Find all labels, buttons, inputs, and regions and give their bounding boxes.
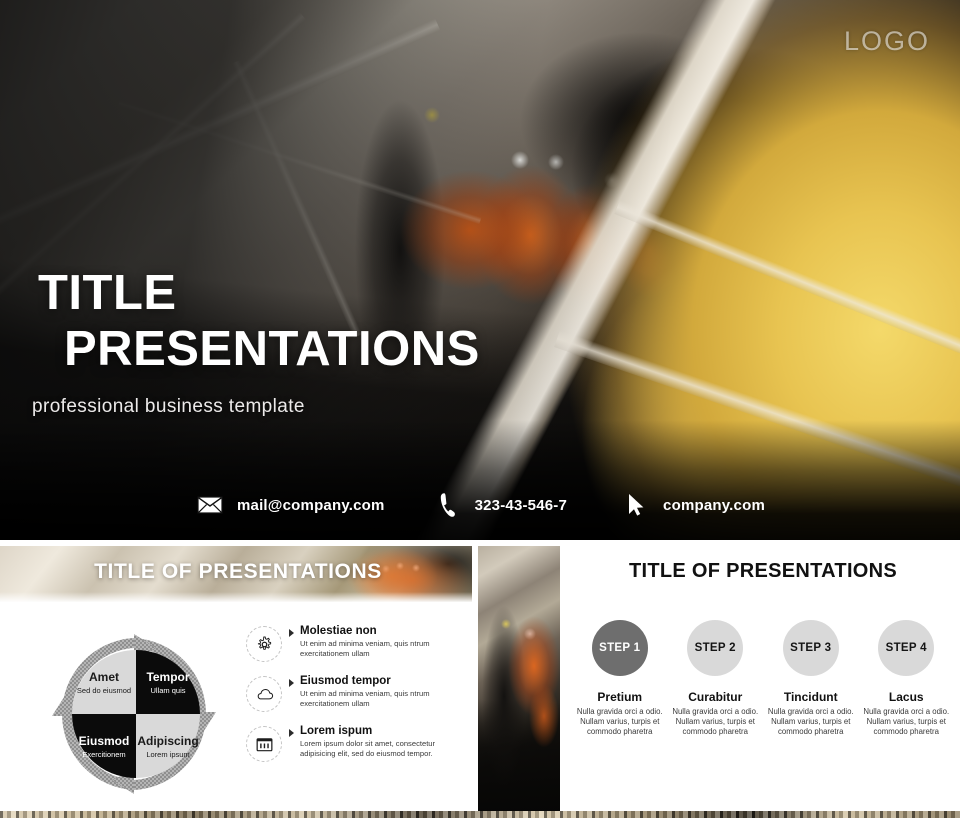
step-heading: Curabitur (688, 690, 742, 704)
hero-title-line2: PRESENTATIONS (38, 321, 480, 377)
feature-body: Ut enim ad minima veniam, quis ntrum exe… (300, 639, 456, 659)
hero-title-line1: TITLE (38, 266, 177, 320)
cycle-quadrants: Amet Sed do eiusmod Tempor Ullam quis Ad… (72, 650, 200, 778)
feature-heading: Lorem ispum (300, 724, 456, 738)
phone-icon (433, 492, 463, 518)
hero-subtitle: professional business template (32, 396, 305, 418)
calendar-icon (246, 726, 282, 762)
contact-website[interactable]: company.com (621, 492, 765, 518)
slide-left-header-photo: TITLE OF PRESENTATIONS (0, 546, 472, 602)
step-body: Nulla gravida orci a odio. Nullam varius… (860, 707, 952, 737)
cycle-sublabel: Exercitionem (82, 750, 125, 759)
hero-slide: LOGO TITLE PRESENTATIONS professional bu… (0, 0, 960, 540)
step-heading: Pretium (597, 690, 642, 704)
contact-website-label: company.com (663, 497, 765, 514)
step-item[interactable]: STEP 2 Curabitur Nulla gravida orci a od… (669, 620, 761, 737)
step-badge: STEP 4 (878, 620, 934, 676)
feature-item[interactable]: Molestiae non Ut enim ad minima veniam, … (246, 624, 456, 662)
slide-template-preview: LOGO TITLE PRESENTATIONS professional bu… (0, 0, 960, 818)
logo-placeholder: LOGO (844, 26, 930, 57)
contact-bar: mail@company.com 323-43-546-7 company.co… (0, 488, 960, 522)
center-photo-strip (478, 546, 560, 812)
step-heading: Tincidunt (784, 690, 838, 704)
step-item[interactable]: STEP 4 Lacus Nulla gravida orci a odio. … (860, 620, 952, 737)
feature-text: Eiusmod tempor Ut enim ad minima veniam,… (300, 674, 456, 709)
step-body: Nulla gravida orci a odio. Nullam varius… (574, 707, 666, 737)
footer-photo-band (0, 811, 960, 818)
cursor-icon (621, 492, 651, 518)
envelope-icon (195, 492, 225, 518)
cloud-icon (246, 676, 282, 712)
contact-phone[interactable]: 323-43-546-7 (433, 492, 567, 518)
cycle-label: Tempor (146, 670, 189, 684)
step-badge: STEP 3 (783, 620, 839, 676)
step-heading: Lacus (889, 690, 924, 704)
cycle-diagram: Amet Sed do eiusmod Tempor Ullam quis Ad… (46, 628, 222, 800)
contact-email-label: mail@company.com (237, 497, 385, 514)
feature-item[interactable]: Lorem ispum Lorem ipsum dolor sit amet, … (246, 724, 456, 762)
cycle-quadrant-amet[interactable]: Amet Sed do eiusmod (72, 650, 136, 714)
cycle-label: Eiusmod (79, 734, 130, 748)
cycle-label: Amet (89, 670, 119, 684)
hero-title: TITLE PRESENTATIONS (38, 265, 480, 377)
slide-left-title: TITLE OF PRESENTATIONS (0, 560, 472, 584)
step-body: Nulla gravida orci a odio. Nullam varius… (765, 707, 857, 737)
step-body: Nulla gravida orci a odio. Nullam varius… (669, 707, 761, 737)
feature-item[interactable]: Eiusmod tempor Ut enim ad minima veniam,… (246, 674, 456, 712)
bullet-arrow-icon (282, 674, 300, 687)
slide-right-title: TITLE OF PRESENTATIONS (566, 560, 960, 583)
step-item[interactable]: STEP 3 Tincidunt Nulla gravida orci a od… (765, 620, 857, 737)
cycle-label: Adipiscing (137, 734, 198, 748)
bullet-arrow-icon (282, 624, 300, 637)
cycle-sublabel: Lorem ipsum (146, 750, 189, 759)
step-item[interactable]: STEP 1 Pretium Nulla gravida orci a odio… (574, 620, 666, 737)
step-badge: STEP 1 (592, 620, 648, 676)
cycle-sublabel: Ullam quis (150, 686, 185, 695)
cycle-quadrant-tempor[interactable]: Tempor Ullam quis (136, 650, 200, 714)
feature-body: Ut enim ad minima veniam, quis ntrum exe… (300, 689, 456, 709)
feature-heading: Molestiae non (300, 624, 456, 638)
contact-phone-label: 323-43-546-7 (475, 497, 567, 514)
feature-body: Lorem ipsum dolor sit amet, consectetur … (300, 739, 456, 759)
feature-heading: Eiusmod tempor (300, 674, 456, 688)
feature-text: Molestiae non Ut enim ad minima veniam, … (300, 624, 456, 659)
cycle-quadrant-eiusmod[interactable]: Eiusmod Exercitionem (72, 714, 136, 778)
slide-right[interactable]: TITLE OF PRESENTATIONS STEP 1 Pretium Nu… (566, 546, 960, 812)
slide-left[interactable]: TITLE OF PRESENTATIONS A (0, 546, 472, 812)
gear-icon (246, 626, 282, 662)
cycle-sublabel: Sed do eiusmod (77, 686, 131, 695)
feature-list: Molestiae non Ut enim ad minima veniam, … (246, 624, 456, 774)
cycle-quadrant-adipiscing[interactable]: Adipiscing Lorem ipsum (136, 714, 200, 778)
steps-row: STEP 1 Pretium Nulla gravida orci a odio… (572, 620, 954, 737)
hero-bottom-gradient (0, 420, 960, 540)
step-badge: STEP 2 (687, 620, 743, 676)
bullet-arrow-icon (282, 724, 300, 737)
feature-text: Lorem ispum Lorem ipsum dolor sit amet, … (300, 724, 456, 759)
contact-email[interactable]: mail@company.com (195, 492, 385, 518)
